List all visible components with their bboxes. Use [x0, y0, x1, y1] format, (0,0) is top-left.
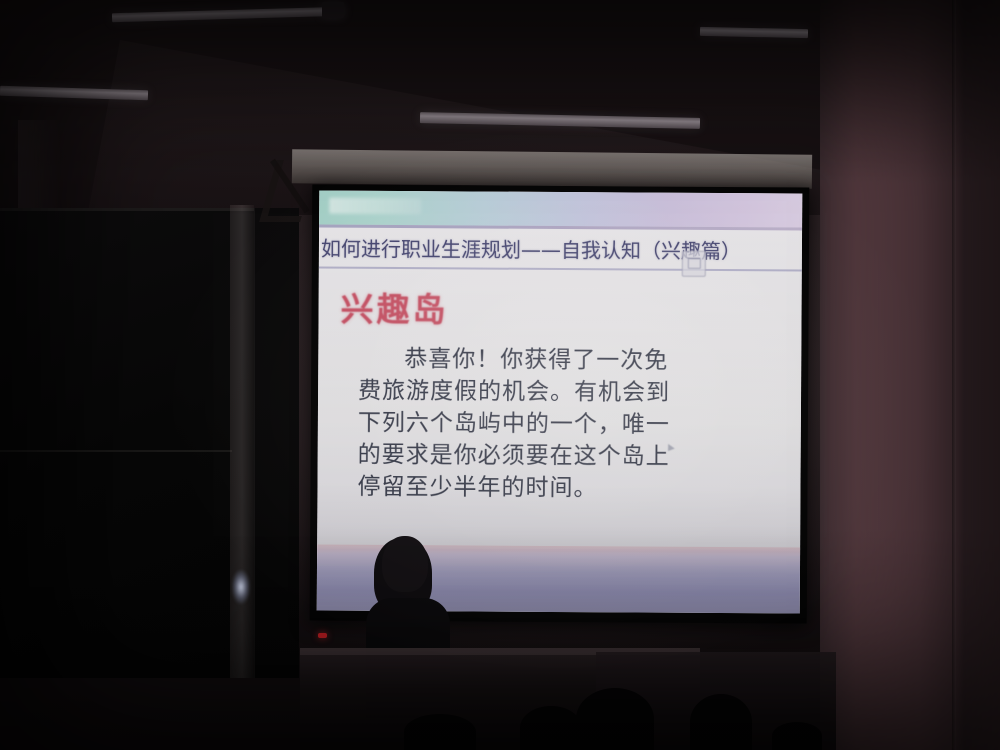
- presenter-head: [382, 536, 428, 592]
- audience-row: [0, 680, 1000, 750]
- audience-head-silhouette: [404, 714, 476, 750]
- right-wall-shadow: [820, 0, 1000, 180]
- slide-header-underline: [319, 267, 802, 272]
- audience-head-silhouette: [576, 688, 654, 750]
- blackboard: [0, 208, 294, 678]
- blackboard-rail: [230, 205, 254, 678]
- audience-head-silhouette: [520, 706, 582, 750]
- right-wall-edge: [952, 0, 956, 750]
- blackboard-side-panel: [254, 208, 299, 678]
- audience-head-silhouette: [690, 694, 752, 750]
- power-led-indicator: [318, 633, 327, 638]
- slide-body-text: 恭喜你！你获得了一次免费旅游度假的机会。有机会到下列六个岛屿中的一个，唯一的要求…: [357, 343, 688, 505]
- rail-light-glint: [232, 570, 250, 604]
- audience-head-silhouette: [772, 722, 822, 750]
- lecture-hall-photo: Fraction 如何进行职业生涯规划——自我认知（兴趣篇） 兴趣岛 恭喜你！你…: [0, 0, 1000, 750]
- screen-housing: [292, 149, 812, 188]
- media-placeholder-icon: [682, 251, 706, 277]
- slide-header-title: 如何进行职业生涯规划——自我认知（兴趣篇）: [321, 233, 785, 265]
- slide-main-title: 兴趣岛: [340, 283, 448, 332]
- fluorescent-tube-endcap-icon: [322, 2, 344, 18]
- slide-band-watermark: [329, 198, 421, 215]
- blackboard-divider: [0, 450, 232, 452]
